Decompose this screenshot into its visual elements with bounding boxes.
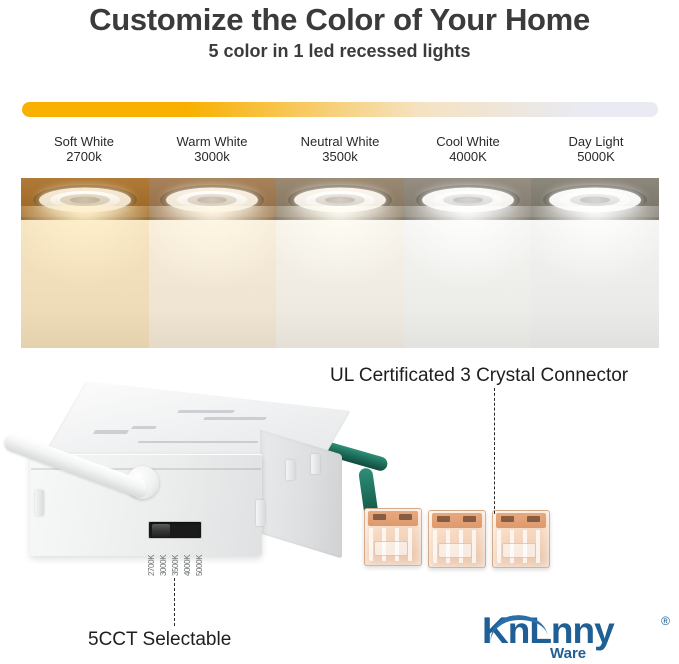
wall	[404, 220, 532, 348]
wall	[149, 220, 277, 348]
photo-panel-soft-white	[21, 178, 149, 348]
embossed-marking	[203, 417, 267, 420]
light-glow	[149, 206, 277, 348]
switch-label-2700k: 2700K	[147, 540, 157, 576]
crystal-connector	[364, 508, 422, 566]
cct-kelvin: 4000K	[404, 149, 532, 164]
photo-panel-cool-white	[404, 178, 532, 348]
cct-name: Day Light	[569, 134, 624, 149]
cct-kelvin: 2700k	[20, 149, 148, 164]
brand-subtitle: Ware	[550, 645, 586, 662]
cct-label-neutral-white: Neutral White 3500k	[276, 134, 404, 168]
lid-tab	[256, 500, 265, 526]
embossed-marking	[93, 430, 129, 434]
switch-label-3500k: 3500K	[171, 540, 181, 576]
cct-label-cool-white: Cool White 4000K	[404, 134, 532, 168]
cct-name: Cool White	[436, 134, 500, 149]
switch-label-4000k: 4000K	[183, 540, 193, 576]
crystal-connector	[428, 510, 486, 568]
embossed-marking	[131, 426, 157, 429]
cct-selector-switch[interactable]	[148, 521, 202, 539]
color-temperature-gradient-bar	[22, 102, 658, 117]
cct-label-row: Soft White 2700k Warm White 3000k Neutra…	[20, 134, 660, 168]
switch-callout-leader-line	[174, 578, 175, 626]
wall	[531, 220, 659, 348]
light-glow	[276, 206, 404, 348]
page-title: Customize the Color of Your Home	[0, 2, 679, 38]
lid-tab	[286, 460, 295, 480]
embossed-marking	[137, 441, 258, 443]
wall	[21, 220, 149, 348]
switch-label-5000k: 5000K	[195, 540, 205, 576]
cct-label-soft-white: Soft White 2700k	[20, 134, 148, 168]
lid-tab	[311, 454, 320, 474]
cct-label-day-light: Day Light 5000K	[532, 134, 660, 168]
cct-kelvin: 5000K	[532, 149, 660, 164]
photo-panel-warm-white	[149, 178, 277, 348]
cct-kelvin: 3000k	[148, 149, 276, 164]
registered-trademark-icon: ®	[661, 614, 670, 628]
light-glow	[404, 206, 532, 348]
light-glow	[21, 206, 149, 348]
cct-name: Neutral White	[301, 134, 380, 149]
connector-callout-label: UL Certificated 3 Crystal Connector	[330, 365, 628, 387]
switch-label-3000k: 3000K	[159, 540, 169, 576]
wall	[276, 220, 404, 348]
cct-switch-scale: 2700K 3000K 3500K 4000K 5000K	[147, 540, 205, 576]
brand-logo: KnLnny ® Ware	[482, 612, 672, 662]
lid-tab	[35, 490, 44, 516]
embossed-marking	[177, 410, 235, 413]
light-glow	[531, 206, 659, 348]
photo-panel-neutral-white	[276, 178, 404, 348]
cct-name: Soft White	[54, 134, 114, 149]
junction-box-side-panel	[260, 429, 342, 558]
cct-photo-comparison-strip	[21, 178, 659, 348]
cct-name: Warm White	[176, 134, 247, 149]
cct-label-warm-white: Warm White 3000k	[148, 134, 276, 168]
switch-callout-label: 5CCT Selectable	[88, 629, 231, 651]
cct-switch-knob[interactable]	[152, 524, 170, 537]
product-infographic: Customize the Color of Your Home 5 color…	[0, 0, 679, 664]
crystal-connector	[492, 510, 550, 568]
connector-callout-leader-line	[494, 388, 495, 514]
page-subtitle: 5 color in 1 led recessed lights	[0, 41, 679, 62]
photo-panel-day-light	[531, 178, 659, 348]
cct-kelvin: 3500k	[276, 149, 404, 164]
